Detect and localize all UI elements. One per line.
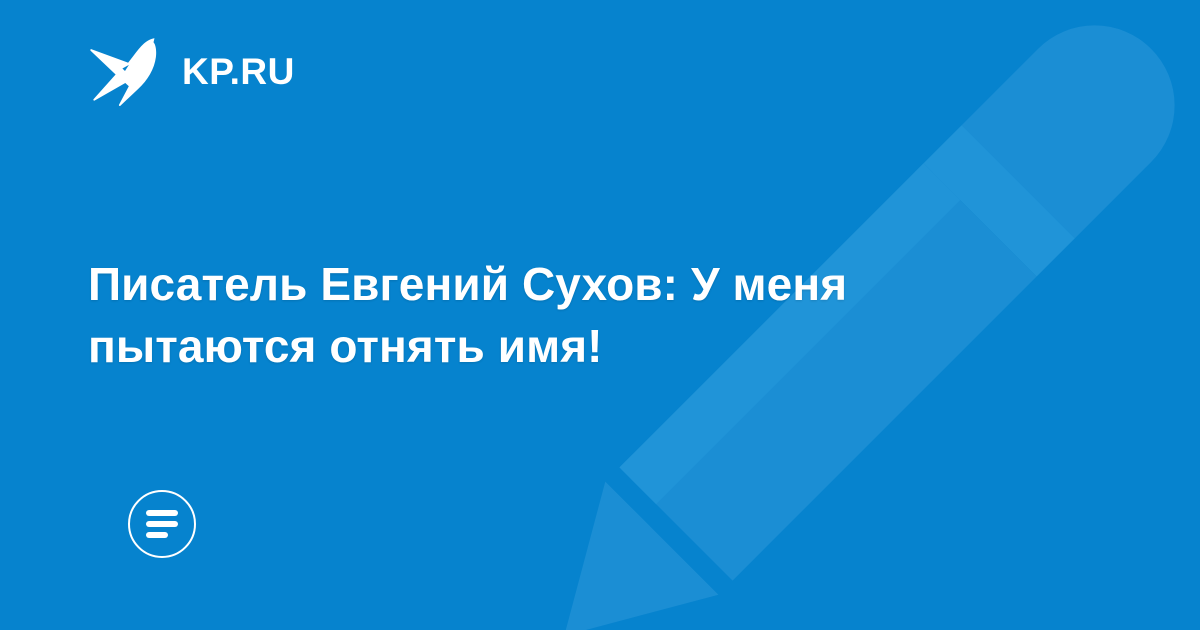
pencil-tip <box>508 482 719 630</box>
hamburger-menu-icon-bar-2 <box>146 521 178 527</box>
hamburger-menu-icon-bar-3 <box>146 532 168 538</box>
swallow-bird-logo-icon <box>90 35 168 107</box>
brand-logo[interactable]: KP.RU <box>90 32 295 110</box>
pencil-eraser <box>962 0 1200 238</box>
share-card: KP.RU Писатель Евгений Сухов: У меня пыт… <box>0 0 1200 630</box>
headline: Писатель Евгений Сухов: У меня пытаются … <box>88 253 1048 377</box>
hamburger-menu-icon-bar-1 <box>146 510 178 516</box>
hamburger-menu-button[interactable]: Меню <box>128 490 196 558</box>
brand-name: KP.RU <box>182 53 295 90</box>
